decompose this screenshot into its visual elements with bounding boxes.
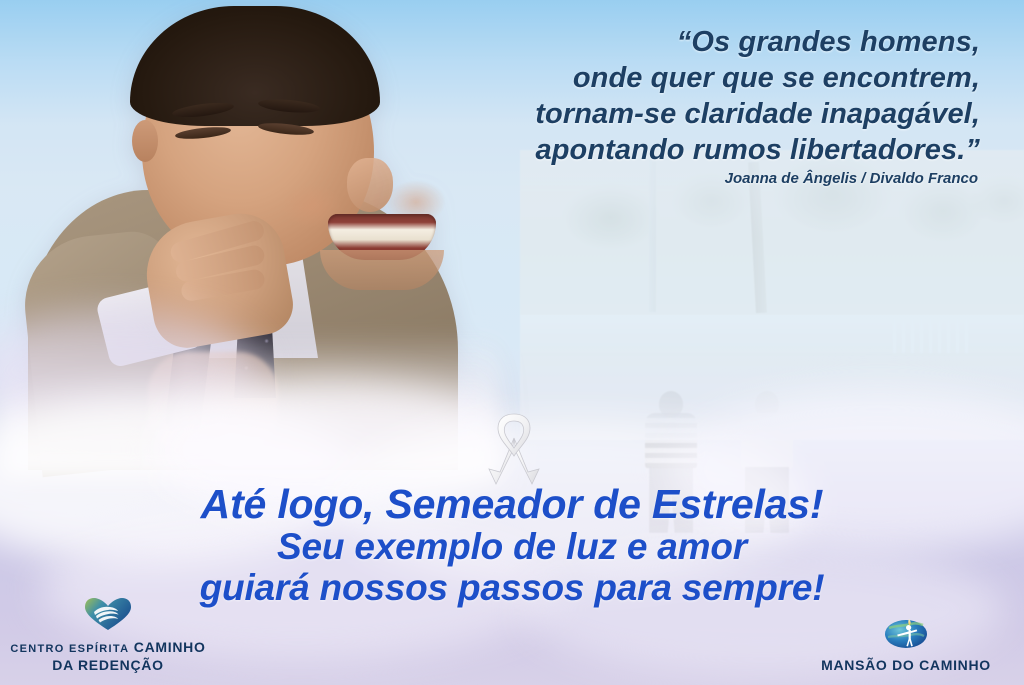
- logo-right-line-1: MANSÃO DO CAMINHO: [821, 657, 991, 673]
- headline-line-1: Até logo, Semeador de Estrelas!: [0, 482, 1024, 526]
- portrait-bottom-fade: [0, 330, 500, 480]
- globe-figure-logo-icon: [796, 615, 1016, 654]
- quote-attribution: Joanna de Ângelis / Divaldo Franco: [725, 170, 978, 187]
- heart-hands-logo-icon: [8, 597, 208, 636]
- quote-line-3: tornam-se claridade inapagável,: [400, 96, 980, 132]
- quote-line-4: apontando rumos libertadores.”: [400, 132, 980, 168]
- white-mourning-ribbon-icon: [482, 412, 546, 488]
- logo-centro-espirita[interactable]: CENTRO ESPÍRITA CAMINHO DA REDENÇÃO: [8, 597, 208, 675]
- logo-left-line-1: CENTRO ESPÍRITA: [10, 643, 129, 655]
- portrait-hair: [130, 6, 380, 126]
- quote-line-1: “Os grandes homens,: [400, 24, 980, 60]
- quote-line-2: onde quer que se encontrem,: [400, 60, 980, 96]
- memorial-poster: “Os grandes homens, onde quer que se enc…: [0, 0, 1024, 685]
- headline-text: Até logo, Semeador de Estrelas! Seu exem…: [0, 482, 1024, 608]
- background-photo: [520, 150, 1024, 440]
- headline-line-2: Seu exemplo de luz e amor: [0, 526, 1024, 567]
- photo-fade-veil: [520, 150, 1024, 440]
- portrait-ear: [132, 120, 158, 162]
- quote-text: “Os grandes homens, onde quer que se enc…: [400, 24, 980, 168]
- portrait-nose: [347, 158, 393, 212]
- logo-mansao-do-caminho[interactable]: MANSÃO DO CAMINHO: [796, 615, 1016, 675]
